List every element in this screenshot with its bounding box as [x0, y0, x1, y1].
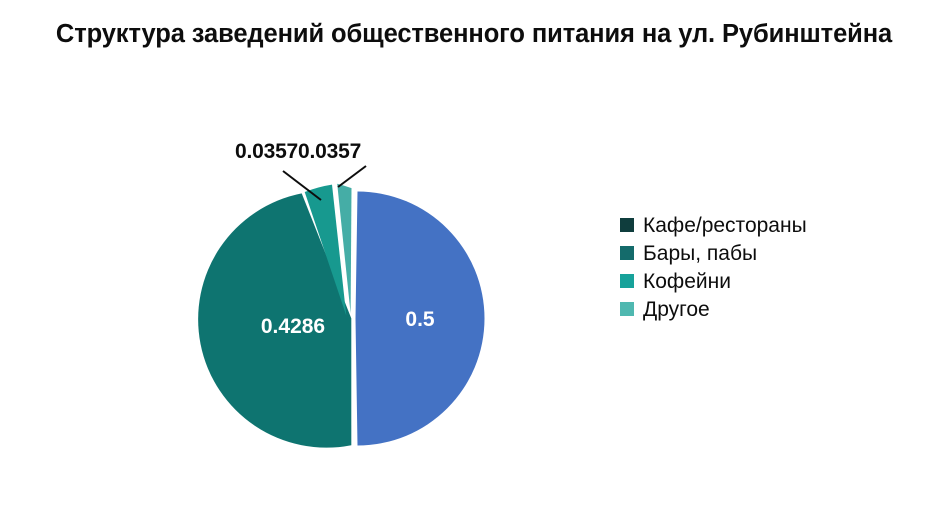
pie-plot-area: 0.5 0.4286 0.03570.0357	[180, 120, 580, 490]
legend-item-cafes-restaurants[interactable]: Кафе/рестораны	[620, 211, 920, 239]
pie-svg	[180, 120, 580, 490]
legend-item-coffee-houses[interactable]: Кофейни	[620, 267, 920, 295]
chart-legend: Кафе/рестораны Бары, пабы Кофейни Другое	[620, 211, 920, 323]
legend-swatch-icon-cafes-restaurants	[620, 218, 634, 232]
legend-swatch-icon-other	[620, 302, 634, 316]
pie-value-label-cafes-restaurants: 0.5	[405, 308, 434, 332]
legend-label-other: Другое	[643, 299, 710, 320]
legend-item-bars-pubs[interactable]: Бары, пабы	[620, 239, 920, 267]
legend-label-coffee-houses: Кофейни	[643, 271, 731, 292]
legend-swatch-icon-coffee-houses	[620, 274, 634, 288]
pie-value-label-other: 0.0357	[298, 140, 361, 164]
pie-value-label-coffee-houses: 0.0357	[235, 140, 298, 164]
chart-title: Структура заведений общественного питани…	[0, 20, 948, 49]
pie-chart-figure: Структура заведений общественного питани…	[0, 0, 948, 529]
legend-item-other[interactable]: Другое	[620, 295, 920, 323]
legend-label-bars-pubs: Бары, пабы	[643, 243, 757, 264]
leader-line-other	[338, 166, 366, 187]
legend-label-cafes-restaurants: Кафе/рестораны	[643, 215, 807, 236]
pie-outer-value-labels: 0.03570.0357	[235, 140, 361, 164]
pie-value-label-bars-pubs: 0.4286	[261, 315, 325, 339]
legend-swatch-icon-bars-pubs	[620, 246, 634, 260]
